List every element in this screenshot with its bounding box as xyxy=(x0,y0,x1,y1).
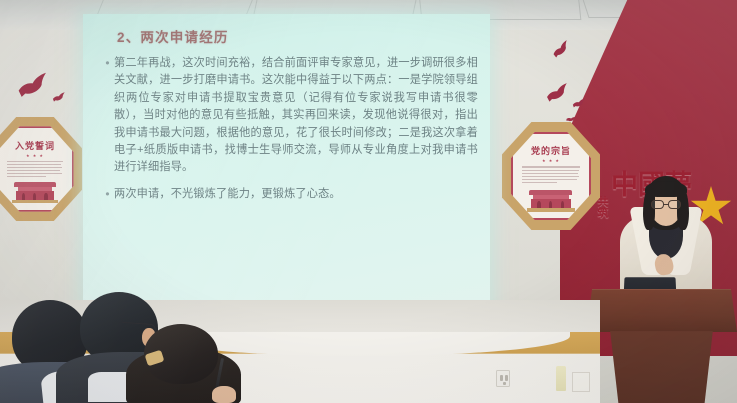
plaque-stars: ★ ★ ★ xyxy=(513,158,589,163)
dove-icon xyxy=(51,91,66,103)
bullet-text: 第二年再战，这次时间充裕，结合前面评审专家意见，进一步调研很多相关文献，进一步打… xyxy=(114,55,478,177)
podium-top xyxy=(586,289,737,332)
presenter-hair-side-left xyxy=(643,188,655,230)
bullet-marker-icon: • xyxy=(101,55,114,72)
audience-person-right-taking-notes xyxy=(118,324,258,403)
tiananmen-illustration xyxy=(12,182,59,203)
water-bottle xyxy=(556,366,566,391)
plaque-party-oath: 入党誓词 ★ ★ ★ xyxy=(0,117,82,221)
bullet-text: 两次申请，不光锻炼了能力，更锻炼了心态。 xyxy=(114,186,478,203)
plaque-party-purpose: 党的宗旨 ★ ★ ★ xyxy=(502,122,600,230)
name-card-stand xyxy=(572,372,590,392)
dove-icon xyxy=(572,97,587,108)
projection-screen: 2、两次申请经历 • 第二年再战，这次时间充裕，结合前面评审专家意见，进一步调研… xyxy=(83,14,490,319)
podium xyxy=(586,289,737,403)
slide-title: 2、两次申请经历 xyxy=(117,26,478,46)
tiananmen-illustration xyxy=(527,190,576,212)
presentation-room-photo: 中國夢 共筑 入党誓词 ★ ★ ★ xyxy=(0,0,737,403)
presenter-hair-side-right xyxy=(677,188,689,230)
plaque-stars: ★ ★ ★ xyxy=(0,153,72,158)
slide-bullet: • 第二年再战，这次时间充裕，结合前面评审专家意见，进一步调研很多相关文献，进一… xyxy=(101,55,478,177)
slide-content: 2、两次申请经历 • 第二年再战，这次时间充裕，结合前面评审专家意见，进一步调研… xyxy=(83,14,490,319)
writing-hand xyxy=(212,386,236,403)
slide-bullet: • 两次申请，不光锻炼了能力，更锻炼了心态。 xyxy=(101,186,478,203)
wall-outlet-icon xyxy=(496,370,510,387)
plaque-title: 党的宗旨 xyxy=(513,144,589,157)
podium-base xyxy=(610,331,713,403)
presenter-glasses-icon xyxy=(651,200,680,209)
plaque-body-text xyxy=(7,161,63,178)
plaque-body-text xyxy=(522,166,580,183)
plaque-title: 入党誓词 xyxy=(0,139,72,152)
bullet-marker-icon: • xyxy=(101,186,114,203)
